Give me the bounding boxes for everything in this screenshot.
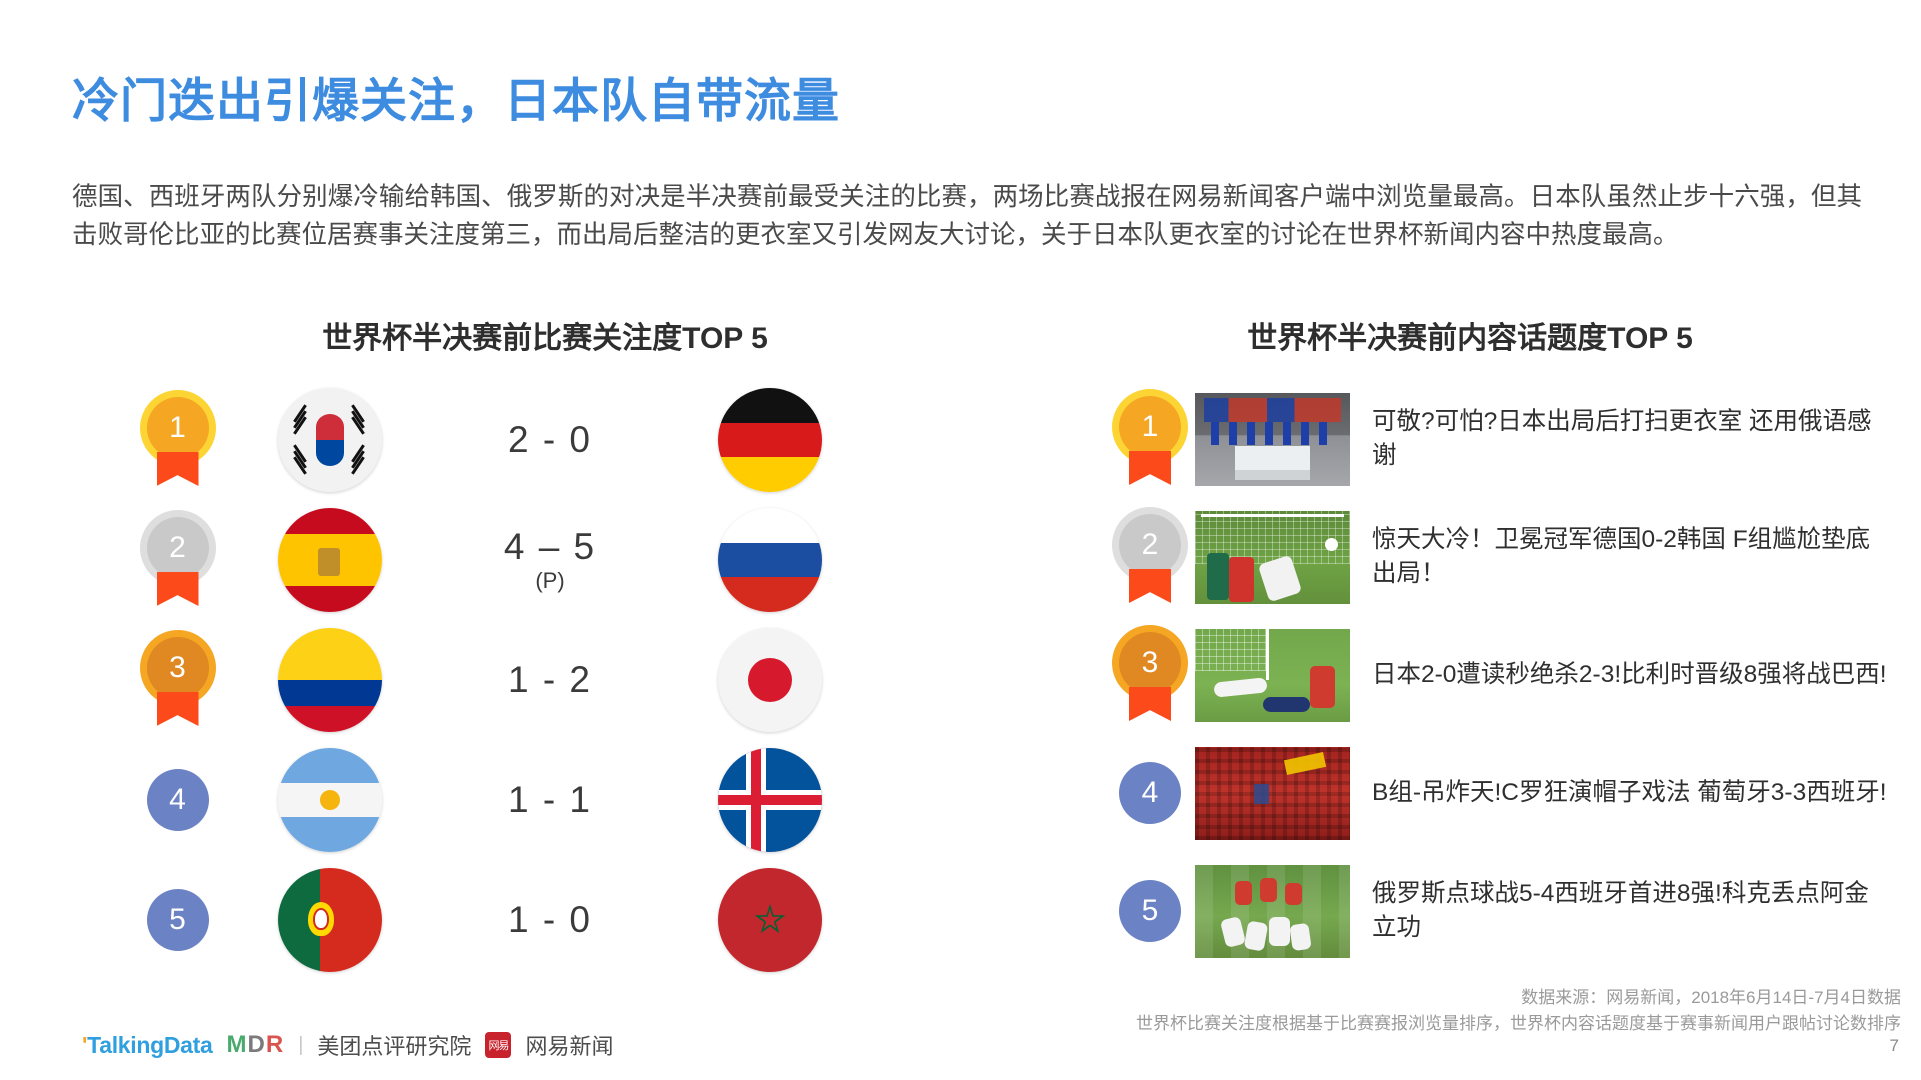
news-thumbnail-locker-room[interactable] [1195, 393, 1350, 486]
rank-cell: 2 [120, 517, 235, 603]
away-flag-cell [675, 628, 865, 732]
medal-bronze-icon: 3 [1119, 632, 1181, 718]
topic-ranking-list: 1 可敬?可怕?日本出局后打扫更衣室 还用俄语感谢 2 惊天大冷！卫冕冠军德国0… [1105, 380, 1905, 970]
score-cell: 1 - 2 [425, 661, 675, 700]
news-title[interactable]: B组-吊炸天!C罗狂演帽子戏法 葡萄牙3-3西班牙! [1372, 776, 1905, 810]
mdr-name-label: 美团点评研究院 [317, 1029, 471, 1061]
source-line-1: 数据来源：网易新闻，2018年6月14日-7月4日数据 [1136, 985, 1901, 1011]
penalty-note: (P) [425, 569, 675, 592]
rank-number: 4 [169, 783, 186, 817]
rank-number: 4 [1142, 776, 1159, 810]
ribbon-icon [1129, 687, 1171, 721]
netease-name-label: 网易新闻 [525, 1029, 613, 1061]
rank-cell: 4 [120, 769, 235, 831]
flag-germany-icon [718, 388, 822, 492]
score-text: 1 - 0 [508, 899, 592, 940]
rank-number: 3 [1119, 632, 1181, 694]
talkingdata-label: TalkingData [87, 1032, 212, 1058]
flag-spain-icon [278, 508, 382, 612]
score-text: 4 – 5 [504, 526, 596, 567]
rank-cell: 1 [1105, 396, 1195, 482]
rank-badge-4: 4 [147, 769, 209, 831]
score-text: 1 - 1 [508, 779, 592, 820]
flag-russia-icon [718, 508, 822, 612]
ribbon-icon [157, 692, 199, 726]
flag-japan-icon [718, 628, 822, 732]
talkingdata-logo: 'TalkingData [82, 1032, 213, 1059]
rank-cell: 2 [1105, 514, 1195, 600]
news-title[interactable]: 惊天大冷！卫冕冠军德国0-2韩国 F组尴尬垫底出局！ [1372, 523, 1905, 591]
intro-paragraph: 德国、西班牙两队分别爆冷输给韩国、俄罗斯的对决是半决赛前最受关注的比赛，两场比赛… [72, 178, 1862, 254]
medal-gold-icon: 1 [1119, 396, 1181, 482]
table-row[interactable]: 2 4 – 5 (P) [120, 500, 1020, 620]
list-item[interactable]: 3 日本2-0遭读秒绝杀2-3!比利时晋级8强将战巴西! [1105, 616, 1905, 734]
away-flag-cell [675, 748, 865, 852]
table-row[interactable]: 5 1 - 0 [120, 860, 1020, 980]
netease-logo-icon: 网易 [485, 1032, 511, 1058]
rank-number: 3 [147, 637, 209, 699]
ribbon-icon [157, 452, 199, 486]
rank-badge-4: 4 [1119, 762, 1181, 824]
medal-bronze-icon: 3 [147, 637, 209, 723]
list-item[interactable]: 1 可敬?可怕?日本出局后打扫更衣室 还用俄语感谢 [1105, 380, 1905, 498]
section-header-topics: 世界杯半决赛前内容话题度TOP 5 [1020, 313, 1920, 357]
rank-cell: 4 [1105, 762, 1195, 824]
list-item[interactable]: 5 俄罗斯点球战5-4西班牙首进8强!科克丢点阿金立功 [1105, 852, 1905, 970]
home-flag-cell [235, 388, 425, 492]
rank-number: 5 [169, 903, 186, 937]
score-text: 2 - 0 [508, 419, 592, 460]
flag-iceland-icon [718, 748, 822, 852]
score-cell: 1 - 0 [425, 901, 675, 940]
flag-colombia-icon [278, 628, 382, 732]
score-cell: 1 - 1 [425, 781, 675, 820]
ribbon-icon [1129, 569, 1171, 603]
brand-bar: 'TalkingData MDR | 美团点评研究院 网易 网易新闻 [82, 1029, 613, 1061]
rank-cell: 5 [120, 889, 235, 951]
flag-south-korea-icon [278, 388, 382, 492]
news-thumbnail-russia-celebration[interactable] [1195, 865, 1350, 958]
news-thumbnail-japan-belgium[interactable] [1195, 629, 1350, 722]
page-number: 7 [1890, 1036, 1899, 1056]
news-title[interactable]: 日本2-0遭读秒绝杀2-3!比利时晋级8强将战巴西! [1372, 658, 1905, 692]
news-thumbnail-germany-korea[interactable] [1195, 511, 1350, 604]
home-flag-cell [235, 748, 425, 852]
mdr-logo: MDR [227, 1031, 285, 1059]
slide-root: 冷门迭出引爆关注，日本队自带流量 德国、西班牙两队分别爆冷输给韩国、俄罗斯的对决… [0, 0, 1921, 1080]
rank-cell: 3 [1105, 632, 1195, 718]
source-line-2: 世界杯比赛关注度根据基于比赛赛报浏览量排序，世界杯内容话题度基于赛事新闻用户跟帖… [1136, 1011, 1901, 1037]
match-ranking-list: 1 2 - 0 [120, 380, 1020, 980]
rank-number: 1 [1119, 396, 1181, 458]
rank-number: 2 [147, 517, 209, 579]
home-flag-cell [235, 628, 425, 732]
score-cell: 4 – 5 (P) [425, 528, 675, 592]
news-thumbnail-spain-fans[interactable] [1195, 747, 1350, 840]
score-text: 1 - 2 [508, 659, 592, 700]
score-cell: 2 - 0 [425, 421, 675, 460]
table-row[interactable]: 4 1 - 1 [120, 740, 1020, 860]
rank-number: 1 [147, 397, 209, 459]
away-flag-cell [675, 508, 865, 612]
rank-cell: 3 [120, 637, 235, 723]
news-title[interactable]: 可敬?可怕?日本出局后打扫更衣室 还用俄语感谢 [1372, 405, 1905, 473]
rank-badge-5: 5 [147, 889, 209, 951]
medal-gold-icon: 1 [147, 397, 209, 483]
rank-badge-5: 5 [1119, 880, 1181, 942]
table-row[interactable]: 1 2 - 0 [120, 380, 1020, 500]
rank-cell: 1 [120, 397, 235, 483]
news-title[interactable]: 俄罗斯点球战5-4西班牙首进8强!科克丢点阿金立功 [1372, 877, 1905, 945]
list-item[interactable]: 2 惊天大冷！卫冕冠军德国0-2韩国 F组尴尬垫底出局！ [1105, 498, 1905, 616]
ribbon-icon [157, 572, 199, 606]
rank-number: 2 [1119, 514, 1181, 576]
away-flag-cell [675, 388, 865, 492]
flag-morocco-icon [718, 868, 822, 972]
brand-separator: | [298, 1034, 303, 1057]
table-row[interactable]: 3 1 - 2 [120, 620, 1020, 740]
page-title: 冷门迭出引爆关注，日本队自带流量 [72, 62, 840, 131]
medal-silver-icon: 2 [147, 517, 209, 603]
list-item[interactable]: 4 B组-吊炸天!C罗狂演帽子戏法 葡萄牙3-3西班牙! [1105, 734, 1905, 852]
away-flag-cell [675, 868, 865, 972]
section-header-matches: 世界杯半决赛前比赛关注度TOP 5 [0, 313, 1090, 357]
rank-cell: 5 [1105, 880, 1195, 942]
flag-argentina-icon [278, 748, 382, 852]
source-note: 数据来源：网易新闻，2018年6月14日-7月4日数据 世界杯比赛关注度根据基于… [1136, 985, 1901, 1037]
medal-silver-icon: 2 [1119, 514, 1181, 600]
rank-number: 5 [1142, 894, 1159, 928]
home-flag-cell [235, 508, 425, 612]
ribbon-icon [1129, 451, 1171, 485]
flag-portugal-icon [278, 868, 382, 972]
home-flag-cell [235, 868, 425, 972]
